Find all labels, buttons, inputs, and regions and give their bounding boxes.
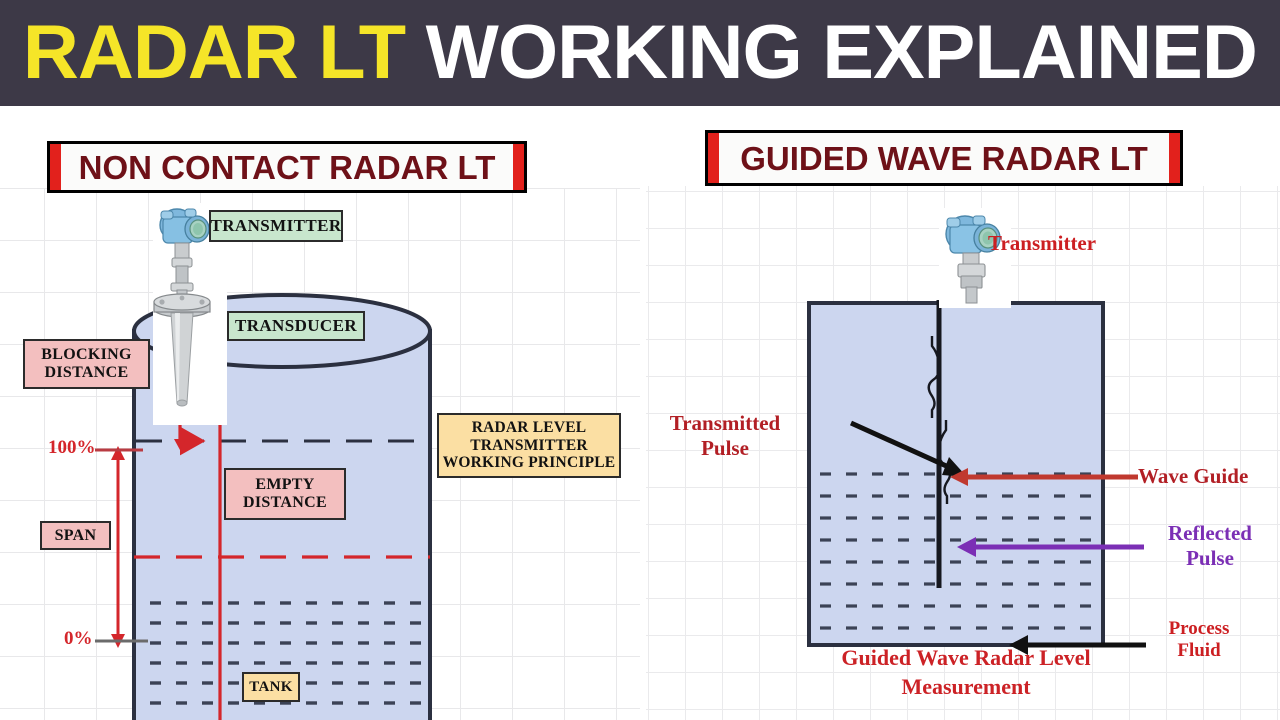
header-banner: RADAR LT WORKING EXPLAINED xyxy=(0,0,1280,106)
wave-guide-arrow xyxy=(946,466,1140,488)
label-transducer: TRANSDUCER xyxy=(227,311,365,341)
gwr-caption: Guided Wave Radar Level Measurement xyxy=(806,643,1126,701)
label-transmitter: Transmitter xyxy=(988,231,1096,256)
label-tank: TANK xyxy=(242,672,300,702)
level-0-label: 0% xyxy=(64,628,93,650)
label-empty-distance: EMPTY DISTANCE xyxy=(224,468,346,520)
reflected-pulse-arrow xyxy=(954,536,1146,558)
right-plate-bar-end xyxy=(1169,133,1180,183)
right-panel-title-plate: GUIDED WAVE RADAR LT xyxy=(705,130,1183,186)
label-reflected-pulse: Reflected Pulse xyxy=(1144,521,1276,571)
non-contact-radar-panel: NON CONTACT RADAR LT xyxy=(0,106,640,720)
label-wave-guide: Wave Guide xyxy=(1138,464,1248,489)
page-title-rest: WORKING EXPLAINED xyxy=(426,10,1257,95)
page-title-highlight: RADAR LT xyxy=(23,10,426,95)
right-plate-bar-start xyxy=(708,133,719,183)
page-title: RADAR LT WORKING EXPLAINED xyxy=(23,15,1257,91)
left-panel-title-plate: NON CONTACT RADAR LT xyxy=(47,141,527,193)
gwr-transmitter-device xyxy=(939,208,1011,308)
level-0-tick xyxy=(95,637,150,645)
level-100-tick xyxy=(95,446,145,454)
label-working-principle: RADAR LEVEL TRANSMITTER WORKING PRINCIPL… xyxy=(437,413,621,478)
empty-distance-arrow xyxy=(208,389,232,720)
guided-wave-radar-panel: GUIDED WAVE RADAR LT xyxy=(646,106,1280,720)
label-blocking-distance: BLOCKING DISTANCE xyxy=(23,339,150,389)
left-plate-bar-start xyxy=(50,144,61,190)
label-process-fluid: Process Fluid xyxy=(1151,618,1247,663)
label-transmitter: TRANSMITTER xyxy=(209,210,343,242)
left-panel-title: NON CONTACT RADAR LT xyxy=(61,151,513,184)
left-plate-bar-end xyxy=(513,144,524,190)
label-span: SPAN xyxy=(40,521,111,550)
label-transmitted-pulse: Transmitted Pulse xyxy=(650,411,800,461)
right-panel-title: GUIDED WAVE RADAR LT xyxy=(719,142,1169,175)
level-100-label: 100% xyxy=(48,437,96,459)
